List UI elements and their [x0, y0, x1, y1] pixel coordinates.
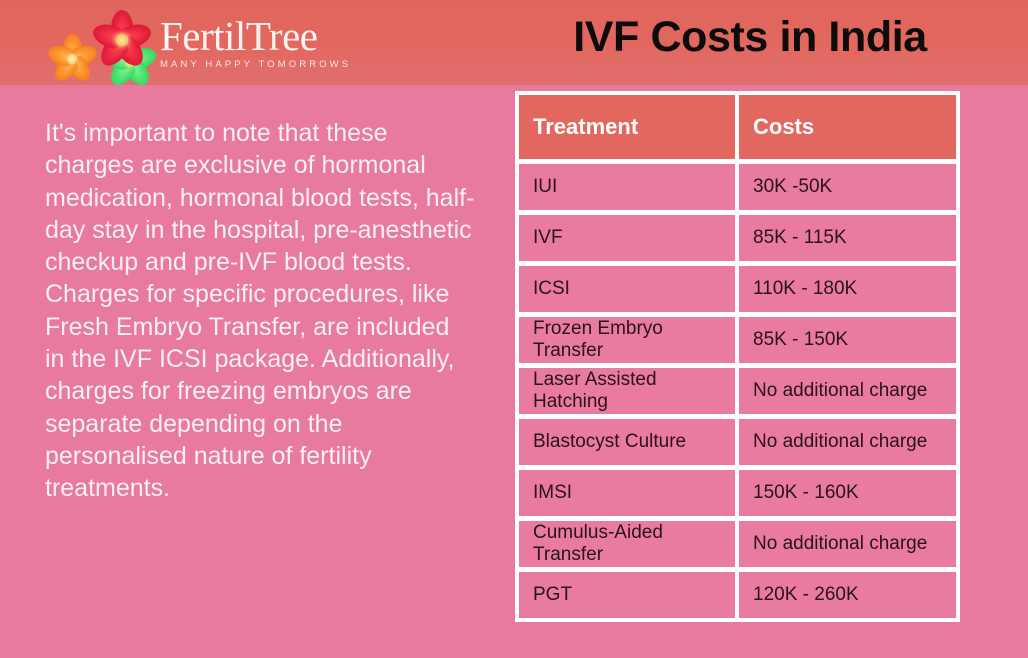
intro-copy: It's important to note that these charge… — [45, 117, 475, 505]
column-header-costs: Costs — [739, 95, 956, 159]
table-row: Blastocyst Culture No additional charge — [519, 419, 956, 465]
intro-paragraph-1: It's important to note that these charge… — [45, 117, 475, 278]
table-row: Cumulus-Aided Transfer No additional cha… — [519, 521, 956, 567]
cell-cost: 85K - 115K — [739, 215, 956, 261]
cell-cost: No additional charge — [739, 521, 956, 567]
table-row: IVF 85K - 115K — [519, 215, 956, 261]
cell-cost: 30K -50K — [739, 164, 956, 210]
cell-cost: 120K - 260K — [739, 572, 956, 618]
cell-treatment: Frozen Embryo Transfer — [519, 317, 735, 363]
table-row: PGT 120K - 260K — [519, 572, 956, 618]
cell-cost: 150K - 160K — [739, 470, 956, 516]
header-band: FertilTree MANY HAPPY TOMORROWS IVF Cost… — [0, 0, 1028, 85]
cell-cost: No additional charge — [739, 419, 956, 465]
cell-treatment: ICSI — [519, 266, 735, 312]
table-row: IUI 30K -50K — [519, 164, 956, 210]
table-row: ICSI 110K - 180K — [519, 266, 956, 312]
wordmark: FertilTree MANY HAPPY TOMORROWS — [160, 14, 360, 70]
cost-table: Treatment Costs IUI 30K -50K IVF 85K - 1… — [515, 91, 960, 622]
page-title: IVF Costs in India — [520, 13, 980, 62]
cell-cost: 85K - 150K — [739, 317, 956, 363]
brand-name: FertilTree — [160, 14, 360, 58]
cell-treatment: IVF — [519, 215, 735, 261]
cell-treatment: IUI — [519, 164, 735, 210]
body-area: It's important to note that these charge… — [0, 85, 1028, 658]
brand-lockup[interactable]: FertilTree MANY HAPPY TOMORROWS — [38, 4, 328, 82]
cell-treatment: Blastocyst Culture — [519, 419, 735, 465]
table-row: Laser Assisted Hatching No additional ch… — [519, 368, 956, 414]
cell-cost: No additional charge — [739, 368, 956, 414]
brand-tagline: MANY HAPPY TOMORROWS — [160, 59, 360, 70]
cell-treatment: IMSI — [519, 470, 735, 516]
red-flower-icon — [86, 10, 158, 70]
intro-paragraph-2: Charges for specific procedures, like Fr… — [45, 278, 475, 504]
table-header-row: Treatment Costs — [519, 95, 956, 159]
cell-treatment: Cumulus-Aided Transfer — [519, 521, 735, 567]
column-header-treatment: Treatment — [519, 95, 735, 159]
cell-treatment: PGT — [519, 572, 735, 618]
cell-treatment: Laser Assisted Hatching — [519, 368, 735, 414]
table-row: IMSI 150K - 160K — [519, 470, 956, 516]
table-row: Frozen Embryo Transfer 85K - 150K — [519, 317, 956, 363]
cell-cost: 110K - 180K — [739, 266, 956, 312]
